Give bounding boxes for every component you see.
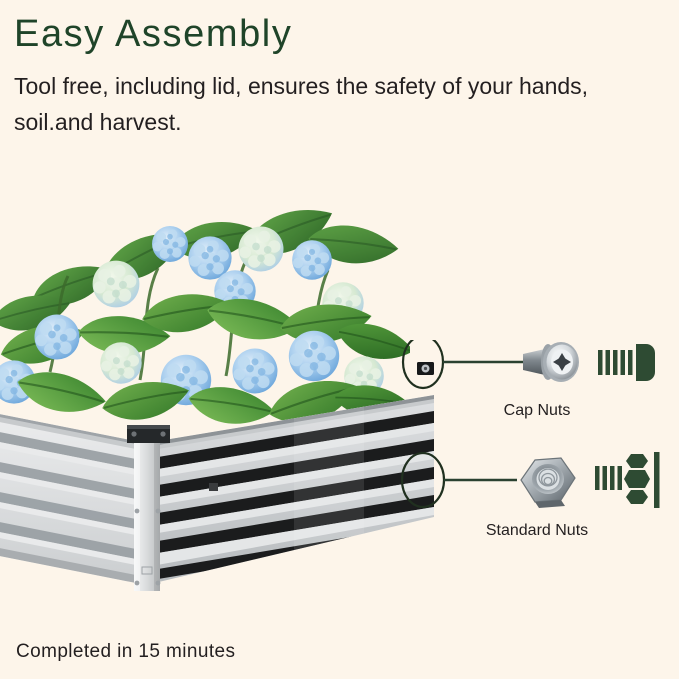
callout-cap-nuts-label: Cap Nuts bbox=[395, 402, 679, 420]
standard-nut-on-product bbox=[209, 483, 218, 491]
page-subtitle: Tool free, including lid, ensures the sa… bbox=[14, 68, 624, 140]
cap-nut-photo bbox=[523, 342, 579, 382]
cap-nut-icon bbox=[598, 344, 655, 381]
callout-cap-nuts[interactable]: Cap Nuts bbox=[395, 340, 679, 432]
raised-garden-bed bbox=[0, 395, 434, 610]
callout-standard-nuts-label: Standard Nuts bbox=[395, 522, 679, 540]
highlight-ellipse bbox=[402, 453, 444, 507]
completion-time-note: Completed in 15 minutes bbox=[16, 641, 235, 663]
highlight-ellipse bbox=[403, 340, 443, 388]
corner-bracket bbox=[127, 425, 170, 443]
standard-nut-photo bbox=[521, 458, 575, 508]
page-title: Easy Assembly bbox=[14, 12, 292, 56]
callout-standard-nuts[interactable]: Standard Nuts bbox=[395, 452, 679, 552]
standard-nut-icon bbox=[595, 452, 660, 508]
infographic-canvas: Easy Assembly Tool free, including lid, … bbox=[0, 0, 679, 679]
